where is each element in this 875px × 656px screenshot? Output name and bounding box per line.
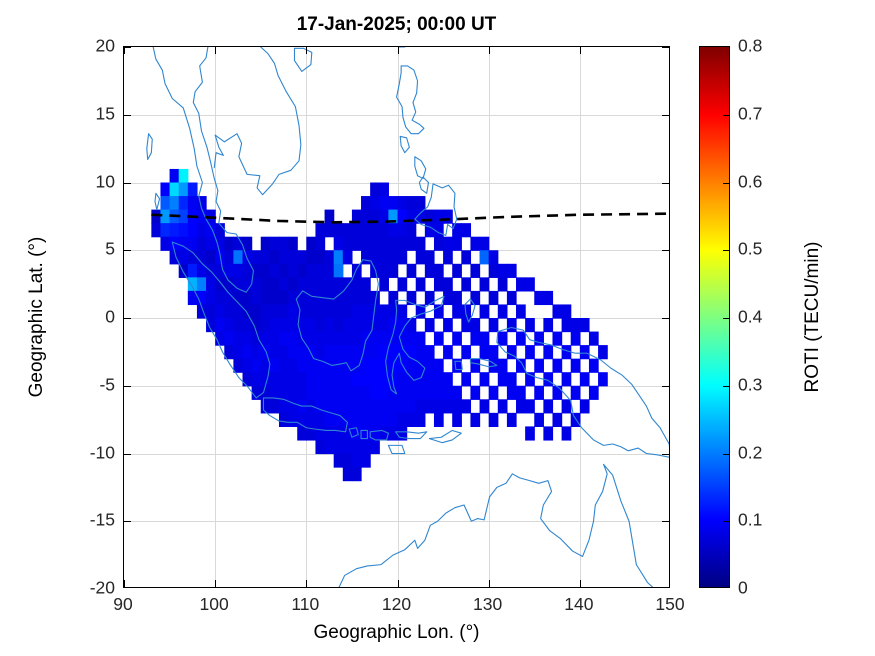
y-tick-label: 5	[105, 239, 115, 260]
y-tick-mark	[662, 386, 669, 387]
colorbar-tick-label: 0.8	[738, 36, 762, 57]
y-tick-mark	[662, 183, 669, 184]
page-title: 17-Jan-2025; 00:00 UT	[123, 14, 670, 36]
x-tick-mark	[580, 47, 581, 54]
y-tick-label: 20	[96, 36, 115, 57]
x-tick-mark	[580, 580, 581, 587]
x-tick-label: 100	[200, 594, 229, 615]
y-tick-mark	[124, 47, 131, 48]
y-axis-tick-labels: -20-15-10-505101520	[55, 46, 115, 588]
x-tick-label: 140	[564, 594, 593, 615]
colorbar-gradient	[700, 47, 729, 587]
y-tick-mark	[662, 454, 669, 455]
y-tick-mark	[124, 318, 131, 319]
y-tick-mark	[124, 183, 131, 184]
colorbar-tick-labels: 0.80.70.60.50.40.30.20.10	[734, 46, 788, 588]
colorbar-tick-mark	[723, 386, 729, 387]
colorbar-tick-label: 0.3	[738, 374, 762, 395]
map-plot-area[interactable]	[123, 46, 670, 588]
y-tick-mark	[124, 521, 131, 522]
x-tick-mark	[398, 47, 399, 54]
y-tick-mark	[662, 47, 669, 48]
colorbar[interactable]	[699, 46, 730, 588]
x-tick-mark	[215, 580, 216, 587]
y-tick-mark	[662, 521, 669, 522]
roti-heatmap-canvas[interactable]	[124, 47, 670, 588]
y-tick-mark	[124, 454, 131, 455]
colorbar-tick-label: 0.1	[738, 510, 762, 531]
y-tick-mark	[124, 115, 131, 116]
colorbar-tick-mark	[723, 521, 729, 522]
colorbar-tick-mark	[723, 454, 729, 455]
y-tick-mark	[662, 250, 669, 251]
x-tick-label: 110	[291, 594, 319, 615]
colorbar-tick-mark	[723, 318, 729, 319]
y-tick-label: 10	[96, 171, 115, 192]
colorbar-tick-label: 0.4	[738, 307, 762, 328]
colorbar-tick-mark	[723, 250, 729, 251]
colorbar-tick-mark	[723, 115, 729, 116]
y-tick-label: 0	[105, 307, 115, 328]
y-tick-mark	[124, 386, 131, 387]
colorbar-tick-label: 0	[738, 578, 748, 599]
y-tick-label: -20	[90, 578, 115, 599]
colorbar-tick-label: 0.5	[738, 239, 762, 260]
x-tick-mark	[398, 580, 399, 587]
x-tick-mark	[124, 580, 125, 587]
x-tick-label: 130	[473, 594, 502, 615]
x-tick-mark	[124, 47, 125, 54]
colorbar-tick-mark	[723, 183, 729, 184]
y-axis-title: Geographic Lat. (°)	[26, 152, 48, 482]
x-axis-title: Geographic Lon. (°)	[123, 622, 670, 644]
x-tick-mark	[215, 47, 216, 54]
x-tick-label: 120	[382, 594, 411, 615]
x-tick-mark	[489, 580, 490, 587]
y-tick-mark	[124, 250, 131, 251]
y-tick-label: -5	[99, 374, 115, 395]
x-axis-tick-labels: 90100110120130140150	[123, 594, 670, 620]
roti-map-figure: 17-Jan-2025; 00:00 UT -20-15-10-50510152…	[0, 0, 875, 656]
x-tick-label: 150	[655, 594, 684, 615]
x-tick-label: 90	[113, 594, 132, 615]
x-tick-mark	[306, 47, 307, 54]
y-tick-mark	[662, 115, 669, 116]
y-tick-label: 15	[96, 103, 115, 124]
x-tick-mark	[489, 47, 490, 54]
y-tick-label: -10	[90, 442, 115, 463]
colorbar-tick-label: 0.7	[738, 103, 762, 124]
colorbar-title: ROTI (TECU/min)	[802, 152, 824, 482]
y-tick-label: -15	[90, 510, 115, 531]
x-tick-mark	[306, 580, 307, 587]
colorbar-tick-label: 0.2	[738, 442, 762, 463]
colorbar-tick-label: 0.6	[738, 171, 762, 192]
y-tick-mark	[662, 318, 669, 319]
